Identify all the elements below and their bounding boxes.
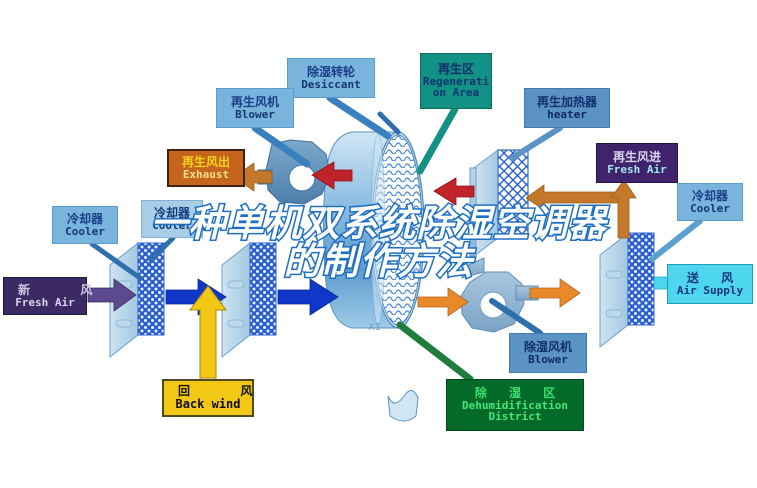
label-exhaust-en: Exhaust	[169, 169, 243, 181]
label-regen-fresh-air-cn: 再生风进	[597, 151, 677, 164]
label-desiccant-wheel-cn: 除湿转轮	[288, 66, 374, 79]
label-dehumid-district-en: Dehumidification District	[447, 400, 583, 424]
label-fresh-air-inlet: 新 风Fresh Air	[3, 277, 87, 315]
diagram-canvas: X1	[0, 0, 757, 488]
label-regeneration-area-en: Regenerati on Area	[421, 76, 491, 100]
label-regen-fresh-air: 再生风进Fresh Air	[596, 143, 678, 183]
label-desiccant-wheel: 除湿转轮Desiccant	[287, 58, 375, 98]
watermark-title-line1: 一种单机双系统除湿空调器	[0, 205, 757, 243]
label-regen-blower-cn: 再生风机	[217, 96, 293, 109]
label-regen-heater: 再生加热器heater	[524, 88, 610, 128]
label-dehumid-district: 除 湿 区Dehumidification District	[446, 379, 584, 431]
label-back-wind: 回 风Back wind	[162, 379, 254, 417]
label-regeneration-area-cn: 再生区	[421, 63, 491, 76]
label-dehumid-blower: 除湿风机Blower	[509, 333, 587, 373]
dehumid-arrow-2	[530, 279, 580, 307]
label-air-supply-en: Air Supply	[668, 285, 752, 297]
label-regen-blower: 再生风机Blower	[216, 88, 294, 128]
label-dehumid-blower-en: Blower	[510, 354, 586, 366]
dehumid-arrow-1	[418, 288, 468, 316]
label-regeneration-area: 再生区Regenerati on Area	[420, 53, 492, 109]
label-dehumid-district-cn: 除 湿 区	[447, 387, 583, 400]
label-exhaust: 再生风出Exhaust	[167, 149, 245, 187]
label-regen-blower-en: Blower	[217, 109, 293, 121]
label-regen-heater-cn: 再生加热器	[525, 96, 609, 109]
label-fresh-air-inlet-cn: 新 风	[4, 284, 86, 297]
label-regen-heater-en: heater	[525, 109, 609, 121]
label-desiccant-wheel-en: Desiccant	[288, 79, 374, 91]
label-regen-fresh-air-en: Fresh Air	[597, 164, 677, 176]
svg-text:X1: X1	[368, 322, 381, 333]
watermark-title: 一种单机双系统除湿空调器 的制作方法	[0, 205, 757, 281]
label-back-wind-en: Back wind	[164, 398, 252, 411]
label-dehumid-blower-cn: 除湿风机	[510, 341, 586, 354]
label-fresh-air-inlet-en: Fresh Air	[4, 297, 86, 309]
regen-hot-arrow-2	[434, 178, 474, 205]
label-exhaust-cn: 再生风出	[169, 156, 243, 169]
watermark-title-line2: 的制作方法	[0, 243, 757, 281]
label-cooler-right-cn: 冷却器	[678, 190, 742, 203]
